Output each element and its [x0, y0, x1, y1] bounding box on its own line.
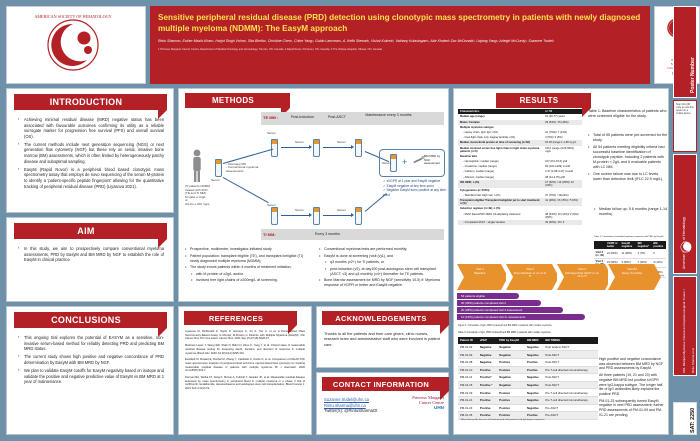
serum-label: Serum [267, 131, 276, 135]
serum-label: Serum [337, 140, 346, 144]
cell-value: 0 [652, 249, 666, 258]
sidebar-track-block: 653. Multiple Myeloma: Clinical and Epid… [673, 276, 697, 376]
figure-timeline-ti [261, 229, 444, 240]
introduction-body: Achieving minimal residual disease (MRD)… [7, 110, 173, 196]
cell-value: Negative [478, 344, 497, 351]
cell-value: Positive [497, 396, 525, 404]
list-item: We plan to validate EasyM cutoffs for Ea… [18, 368, 164, 385]
results-bullets-2: Median follow up: 5.6 months (range 1-14… [594, 207, 668, 219]
cell-value: Post ASCT [543, 381, 598, 389]
results-bullets-3: High positive and negative concordance w… [594, 357, 666, 419]
cell-value: 11 (28%) [620, 249, 636, 258]
list-item: In this study, we aim to prospectively c… [18, 246, 164, 263]
table-row: PM-01-23PositivePositiveNegativePre-ASCT [458, 404, 598, 412]
page-title: Sensitive peripheral residual disease (P… [158, 12, 642, 34]
cell-characteristic: - Completed ASCT : single/ tandem [458, 220, 543, 225]
table-col-header: Patient ID [458, 337, 478, 344]
cell-value: Negative [525, 344, 543, 351]
conclusions-title: CONCLUSIONS [14, 312, 158, 328]
figure-head-every3months: Every 3 months [315, 232, 340, 236]
cell-visit: Visit 2 (n= 30) [594, 249, 605, 258]
list-item: PM-01-23 subsequently turned EasyM negat… [594, 399, 666, 418]
table-row: - Completed ASCT : single/ tandem33 (60%… [458, 220, 582, 225]
list-item: EasyM (Rapid Novor) is a peripheral bloo… [18, 167, 164, 189]
cell-value: Post ASCT [543, 358, 598, 366]
cell-value: Negative [525, 351, 543, 359]
results-bullets-1: Total of 55 patients were pre-screened f… [588, 133, 668, 184]
flow-arrow [323, 215, 351, 216]
table-col-header: BM MRD [525, 337, 543, 344]
cell-characteristic: Transplant eligible/ Transplant Ineligib… [458, 198, 543, 206]
flow-arrow [323, 147, 351, 148]
flow-note: Figure 1: Correlation of IgG, PRD by Eas… [458, 325, 666, 327]
list-item: post-induction (v2), at day100 post-auto… [325, 267, 446, 277]
author-list: Rintu Sharma¹, Esther Masih-Khan¹, Harjo… [158, 39, 642, 44]
title-bar: Sensitive peripheral residual disease (P… [150, 6, 650, 84]
list-item: Bone Marrow assessment for MRD by NGF (s… [319, 278, 446, 288]
cell-value: Pre T-cell directed immunotherapy [543, 366, 598, 374]
flow-bar: 54 patients eligible [457, 293, 519, 299]
branch-arrow-ti [223, 177, 269, 203]
figure-head-postinduction: Post-Induction [291, 115, 314, 119]
table-col-header: EasyM negative [620, 241, 636, 249]
cell-value: Post ASCT [543, 374, 598, 382]
sidebar-track-label: 653. Multiple Myeloma: Clinical and Epid… [682, 289, 686, 373]
table3-caption: Table 3: Correlation of IgG, PRD by Easy… [458, 332, 550, 334]
plus-icon: + [402, 158, 407, 167]
patient-icon [189, 149, 205, 183]
cell-value: Post tandem ASCT [543, 344, 598, 351]
list-item: Prospective, multicenter, investigator-i… [185, 247, 311, 252]
branch-arrow-te [223, 149, 273, 164]
results-section: RESULTS Characteristics n= 54 Median age… [453, 88, 669, 435]
reference-item: Liyasova M, McDonald Z, Taylor P, Gorosp… [185, 330, 305, 341]
table-col-header: BM TIMING [543, 337, 598, 344]
list-item: sVGPR at 1 year and EasyM negative [383, 179, 447, 184]
list-item: This ongoing trial explores the potentia… [18, 335, 164, 352]
aim-section: AIM In this study, we aim to prospective… [6, 217, 174, 302]
reference-item: Eveillard M, Rustad E, Roshal M, Zhang Y… [185, 358, 305, 373]
table-row: PM-01-21PositivePositiveNegativePre T-ce… [458, 396, 598, 404]
table-row: Visit 2 (n= 30)21 (63%)11 (28%)3 (7%)0 [594, 249, 666, 258]
branch-note: - Clonoapp MS - Conventional myeloma ass… [226, 163, 259, 173]
cell-value: Negative [478, 358, 497, 366]
table-col-header: BM negative* [636, 241, 652, 249]
cell-value: Positive * [478, 381, 497, 389]
cell-patient-id: PM-01-08 [458, 358, 478, 366]
flow-step: Visit 2 Post induction or on v1 in TI [506, 264, 552, 290]
list-item: Median follow up: 5.6 months (range 1-14… [594, 207, 668, 217]
cell-value: 21 (63%) [605, 249, 620, 258]
list-item: All 54 patients meeting eligibility crit… [588, 145, 668, 170]
table-col-header: sPEP [478, 337, 497, 344]
acknowledgements-title: ACKNOWLEDGEMENTS [322, 311, 440, 325]
patient-cohort-note: 70 patients NDMM treated with SOC (TE an… [185, 185, 211, 207]
figure-head-maintenance: Maintenance every 3 months [361, 113, 416, 117]
flow-step: Visit 1 Baseline [457, 264, 501, 290]
cell-value: Negative [497, 381, 525, 389]
bm-mrd-box: Serum + BM MRD by NGF assessment [379, 149, 445, 177]
list-item: The study enrols patients within 4 month… [185, 265, 311, 270]
cell-value: Pre-ASCT [543, 412, 598, 420]
serum-tube-ti-1 [271, 207, 278, 225]
baseline-characteristics-table: Characteristics n= 54 Median age (range)… [458, 109, 582, 225]
list-item: with M protein of ≥2g/L and/or [191, 272, 311, 277]
list-item: involved free light chains of ≥200mg/L a… [191, 278, 311, 283]
table-row: ISS I/II/III; n (%)27 (52%) / 13 (25%)/ … [458, 180, 582, 188]
cell-value: Negative [525, 389, 543, 397]
sidebar-abstract-id-block: SAT: 2250 [673, 402, 697, 435]
list-item: Conventional myeloma tests are performed… [319, 247, 446, 252]
cell-patient-id: PM-01-23 [458, 404, 478, 412]
svg-text:AMERICAN SOCIETY OF HEMATOLOGY: AMERICAN SOCIETY OF HEMATOLOGY [34, 14, 111, 19]
methods-text-right: Conventional myeloma tests are performed… [319, 247, 446, 290]
acknowledgements-body: Thanks to all the patients and their car… [317, 325, 448, 353]
flow-step: Visit 3 100 days Post ASCT or on v3 in T… [557, 264, 605, 290]
serum-tube-ti-3 [355, 207, 362, 225]
contact-section: CONTACT INFORMATION Suzanne.trudel@uhn.c… [316, 372, 449, 435]
serum-tube-te-2 [313, 139, 320, 157]
cell-value: Negative [525, 374, 543, 382]
list-item: EasyM is done at screening (visit (v)1),… [319, 254, 446, 259]
cell-patient-id: PM-01-21 [458, 396, 478, 404]
table-col-header: VGPR or better [605, 241, 620, 249]
flow-bar: 10 (19%) patients completed visit 4+ ass… [457, 314, 585, 320]
serum-tube-mrd [390, 154, 397, 172]
list-item: Negative EasyM turns positive at any tim… [383, 188, 447, 197]
table-row: PM-01-14Positive*NegativeNegativePost AS… [458, 374, 598, 382]
serum-label: Serum [295, 140, 304, 144]
serum-tube-screening [215, 159, 222, 177]
methods-title: METHODS [185, 93, 281, 108]
cell-value: Positive [478, 396, 497, 404]
ti-mm-label: TI MM: [263, 232, 276, 237]
table-header-row: Patient IDsPEPPRD by EasyMBM MRDBM TIMIN… [458, 337, 598, 344]
sidebar-poster-number: Poster Number [673, 6, 697, 98]
patient-flow-diagram: Visit 1 BaselineVisit 2 Post induction o… [457, 264, 669, 292]
aim-body: In this study, we aim to prospectively c… [7, 239, 173, 269]
methods-section: METHODS TE MM : Post-Induction Post-ASCT… [178, 88, 449, 302]
acknowledgements-section: ACKNOWLEDGEMENTS Thanks to all the patie… [316, 306, 449, 368]
cell-value: Negative [497, 344, 525, 351]
cell-value: Positive [497, 366, 525, 374]
cell-value: Negative [525, 396, 543, 404]
conclusions-body: This ongoing trial explores the potentia… [7, 328, 173, 391]
references-title: REFERENCES [184, 311, 288, 325]
serum-tube-te-3 [355, 139, 362, 157]
list-item: High positive and negative concordance w… [594, 357, 666, 371]
serum-label: Serum [295, 208, 304, 212]
table-row: PM-01-29PositivePositiveNegativePre T-ce… [458, 389, 598, 397]
aim-title: AIM [14, 223, 158, 239]
contact-body: Suzanne.trudel@uhn.ca Rintu.sharma@uhn.c… [317, 391, 448, 420]
cell-value: Positive [497, 404, 525, 412]
cell-characteristic: Median involved serum free light chain i… [458, 146, 543, 154]
affiliations: 1 Princess Margaret Cancer Centre, Depar… [158, 48, 642, 52]
serum-label: Serum [267, 203, 276, 207]
cell-value: Positive* [478, 374, 497, 382]
cell-value: Positive [525, 358, 543, 366]
poster-canvas: AMERICAN SOCIETY OF HEMATOLOGY Sensitive… [0, 0, 700, 441]
list-item: Achieving minimal residual disease (MRD)… [18, 117, 164, 139]
cell-value: 41 (26%) / 8 (15%) / 5 (9%) [543, 198, 582, 206]
flow-bar: 20 (28%) patients completed visit 3 asse… [457, 307, 563, 313]
cell-value: Negative [478, 351, 497, 359]
cell-value: Positive [497, 389, 525, 397]
cell-patient-id: PM-01-10 [458, 366, 478, 374]
cell-value: 3 (7%) [636, 249, 652, 258]
serum-label: Serum [337, 208, 346, 212]
flow-bar: 30 (39%) patients completed visit 2 [457, 300, 541, 306]
table-row: PM-01-03NegativeNegativeNegativePost ASC… [458, 351, 598, 359]
contact-title: CONTACT INFORMATION [322, 377, 440, 391]
cell-patient-id: PM-01-02 [458, 344, 478, 351]
table-header-row: VGPR or betterEasyM negativeBM negative*… [594, 241, 666, 249]
cell-value: 33 (60%); 19 / 4 [543, 220, 582, 225]
sidebar-abstract-id: SAT: 2250 [690, 408, 696, 433]
ash-small-icon [680, 241, 692, 253]
serum-tube-ti-2 [313, 207, 320, 225]
methods-figure: TE MM : Post-Induction Post-ASCT Mainten… [183, 111, 446, 243]
list-item: Total of 55 patients were pre-screened f… [588, 133, 668, 143]
mrd-criteria-list: sVGPR at 1 year and EasyM negative EasyM… [383, 179, 447, 197]
list-item: Patient population: transplant eligible … [185, 254, 311, 264]
poster-sidebar: Poster Number Scan this QR code to view … [673, 6, 697, 435]
patient-correlation-table: Patient IDsPEPPRD by EasyMBM MRDBM TIMIN… [458, 337, 598, 420]
list-item: The current methods include next generat… [18, 142, 164, 164]
table3-footnote: * All positive profile because of Daratu… [460, 419, 544, 421]
figure-head-postasct: Post-ASCT [328, 115, 346, 119]
flow-arrow [281, 215, 309, 216]
results-title: RESULTS [496, 93, 582, 108]
ash-logo: AMERICAN SOCIETY OF HEMATOLOGY [6, 6, 146, 84]
sidebar-society-block: American Society of Hematology [673, 154, 697, 274]
sidebar-author-label: Rintu Sharma et al [691, 348, 695, 373]
cell-value: Post ASCT [543, 351, 598, 359]
cell-value: 38 (54%)/ 10 (14%)/ 2 (6%)/ 3(9%) [543, 212, 582, 220]
cell-value: Pre T-cell directed immunotherapy [543, 389, 598, 397]
table-col-header: BM positive [652, 241, 666, 249]
cell-patient-id: PM-01-03 [458, 351, 478, 359]
cell-value: Negative [525, 404, 543, 412]
table-row: PM-01-10PositivePositivePositivePre T-ce… [458, 366, 598, 374]
cell-value: Negative [497, 351, 525, 359]
table1-caption: Table 1: Baseline characteristics of pat… [588, 109, 668, 119]
flow-step: Visit #4 Every 3 months [608, 264, 654, 290]
cell-value: 1614 (range 2115-5501) mg/L [543, 146, 582, 154]
introduction-section: INTRODUCTION Achieving minimal residual … [6, 88, 174, 213]
serum-label: Serum [211, 178, 220, 182]
table-row: PM-01-08NegativePositivePositivePost ASC… [458, 358, 598, 366]
cell-value: Positive [497, 358, 525, 366]
cell-value: Positive [478, 366, 497, 374]
cell-value: Positive [478, 389, 497, 397]
list-item: One screen failure was due to LC levels … [588, 172, 668, 182]
conclusions-section: CONCLUSIONS This ongoing trial explores … [6, 306, 174, 435]
bm-mrd-label: BM MRD by NGF assessment [424, 155, 444, 166]
cell-value: Positive [525, 366, 543, 374]
cell-patient-id: PM-01-15 [458, 381, 478, 389]
cell-characteristic: - RVD/ Dara-RVD/ DRD/ Vd-alkylating trea… [458, 212, 543, 220]
table-col-header: PRD by EasyM [497, 337, 525, 344]
cell-value: Positive [478, 404, 497, 412]
list-item: q3 months (v2+) for TI patients, or [325, 260, 446, 265]
list-item: The current study shows high positive an… [18, 354, 164, 365]
cell-value: 27 (52%) / 13 (25%)/ 12 (23%) [543, 180, 582, 188]
cell-value: Pre-ASCT [543, 404, 598, 412]
references-body: Liyasova M, McDonald Z, Taylor P, Gorosp… [179, 325, 311, 399]
ash-logo-icon: AMERICAN SOCIETY OF HEMATOLOGY [26, 12, 126, 78]
table-col-header [594, 241, 605, 249]
cell-value: Pre T-cell directed immunotherapy [543, 396, 598, 404]
contact-uhn-brand: UHN [434, 405, 444, 411]
table-row: Transplant eligible/ Transplant Ineligib… [458, 198, 582, 206]
table-row: PM-01-02NegativeNegativeNegativePost tan… [458, 344, 598, 351]
table-row: - RVD/ Dara-RVD/ DRD/ Vd-alkylating trea… [458, 212, 582, 220]
table-row: PM-01-15Positive *NegativeNegativePost A… [458, 381, 598, 389]
twitter-handle[interactable]: Twitter(X): @RintuSharmaOt [324, 408, 377, 413]
flow-arrow [281, 147, 309, 148]
table2-caption: Table 2: Correlation of standard myeloma… [594, 236, 663, 238]
cell-value: Negative [525, 381, 543, 389]
cell-patient-id: PM-01-29 [458, 389, 478, 397]
table-row: Median involved serum free light chain i… [458, 146, 582, 154]
references-section: REFERENCES Liyasova M, McDonald Z, Taylo… [178, 306, 312, 435]
reference-item: Derman BA, Stefka AT, Jiang K, McIver A,… [185, 376, 305, 391]
cell-characteristic: ISS I/II/III; n (%) [458, 180, 543, 188]
te-mm-label: TE MM : [263, 115, 278, 120]
methods-text-left: Prospective, multicenter, investigator-i… [185, 247, 311, 285]
cell-patient-id: PM-01-14 [458, 374, 478, 382]
introduction-title: INTRODUCTION [14, 94, 158, 110]
poster-header: AMERICAN SOCIETY OF HEMATOLOGY Sensitive… [6, 6, 694, 84]
reference-item: Martinez-Lopez J, Wong SW, Shah N, Bahri… [185, 344, 305, 355]
list-item: All three patients (19, 21 and 23) with … [594, 373, 666, 397]
cell-value: Negative [497, 374, 525, 382]
serum-label: Serum [382, 161, 391, 165]
sidebar-qr-block[interactable]: Scan this QR code to view this poster on… [673, 100, 697, 152]
figure-timeline-te [261, 112, 444, 125]
sidebar-poster-number-label: Poster Number [690, 57, 696, 93]
qr-note: Scan this QR code to view this poster on… [674, 101, 696, 117]
